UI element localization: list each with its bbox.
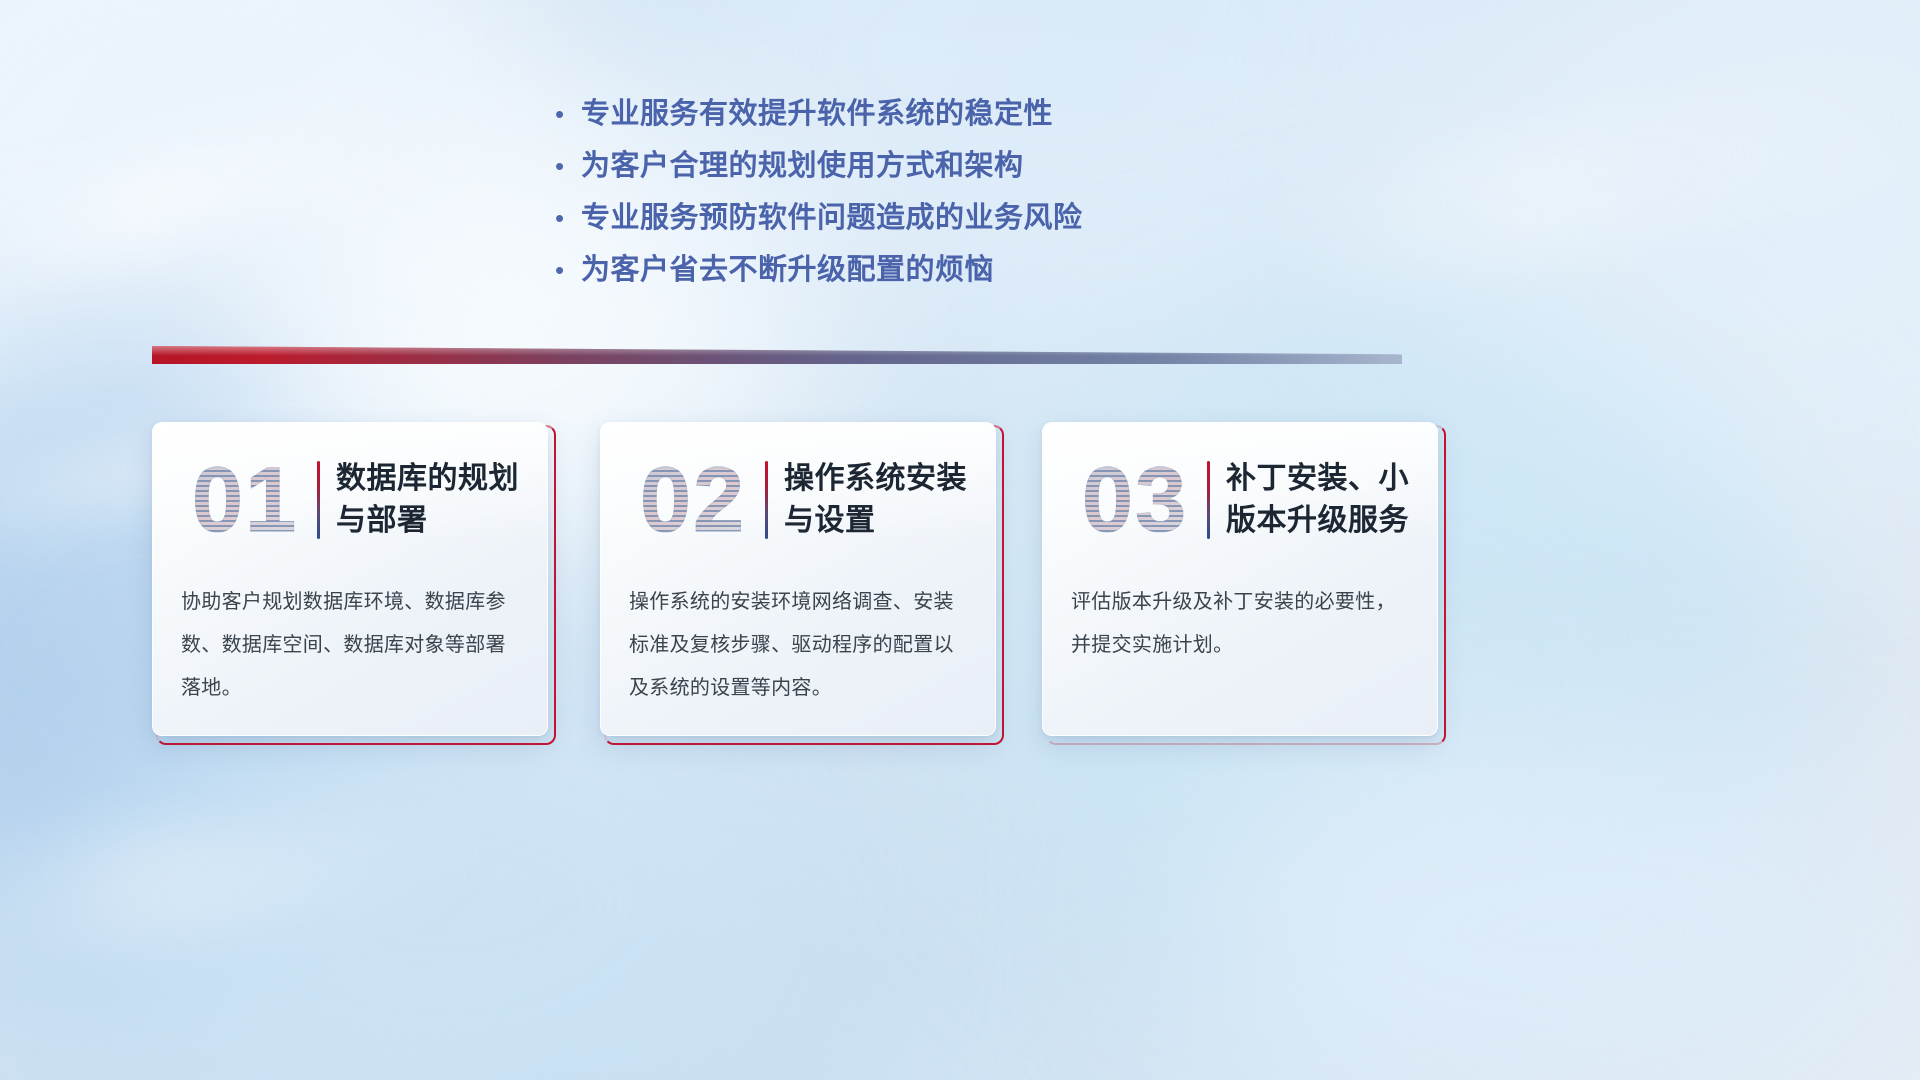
bullet-text: 为客户合理的规划使用方式和架构 (581, 144, 1024, 188)
card-divider-rule (317, 461, 320, 539)
list-item: • 为客户省去不断升级配置的烦恼 (555, 248, 1375, 300)
list-item: • 专业服务预防软件问题造成的业务风险 (555, 196, 1375, 248)
light-blob (1380, 0, 1920, 560)
card-header: 03 补丁安装、小版本升级服务 (1043, 441, 1437, 559)
bullet-dot-icon: • (555, 144, 581, 188)
card-surface: 02 操作系统安装与设置 操作系统的安装环境网络调查、安装标准及复核步骤、驱动程… (600, 422, 996, 736)
slide-canvas: • 专业服务有效提升软件系统的稳定性 • 为客户合理的规划使用方式和架构 • 专… (0, 0, 1920, 1080)
bullet-dot-icon: • (555, 248, 581, 292)
benefits-bullet-list: • 专业服务有效提升软件系统的稳定性 • 为客户合理的规划使用方式和架构 • 专… (555, 92, 1375, 300)
card-description: 协助客户规划数据库环境、数据库参数、数据库空间、数据库对象等部署落地。 (181, 581, 521, 710)
card-surface: 01 数据库的规划与部署 协助客户规划数据库环境、数据库参数、数据库空间、数据库… (152, 422, 548, 736)
card-title: 补丁安装、小版本升级服务 (1226, 458, 1437, 542)
bullet-text: 专业服务预防软件问题造成的业务风险 (581, 196, 1083, 240)
service-card[interactable]: 03 补丁安装、小版本升级服务 评估版本升级及补丁安装的必要性，并提交实施计划。 (1042, 422, 1442, 742)
card-description: 评估版本升级及补丁安装的必要性，并提交实施计划。 (1071, 581, 1411, 667)
service-card-group: 01 数据库的规划与部署 协助客户规划数据库环境、数据库参数、数据库空间、数据库… (152, 422, 1452, 742)
light-streak (0, 783, 485, 967)
card-header: 01 数据库的规划与部署 (153, 441, 547, 559)
card-surface: 03 补丁安装、小版本升级服务 评估版本升级及补丁安装的必要性，并提交实施计划。 (1042, 422, 1438, 736)
bullet-dot-icon: • (555, 92, 581, 136)
card-number-watermark: 02 (623, 450, 763, 550)
card-number-watermark: 03 (1065, 450, 1205, 550)
section-divider (152, 346, 1402, 364)
light-blob (1180, 720, 1920, 1080)
card-description: 操作系统的安装环境网络调查、安装标准及复核步骤、驱动程序的配置以及系统的设置等内… (629, 581, 969, 710)
card-title: 操作系统安装与设置 (784, 458, 995, 542)
service-card[interactable]: 01 数据库的规划与部署 协助客户规划数据库环境、数据库参数、数据库空间、数据库… (152, 422, 552, 742)
card-divider-rule (765, 461, 768, 539)
card-number-watermark: 01 (175, 450, 315, 550)
service-card[interactable]: 02 操作系统安装与设置 操作系统的安装环境网络调查、安装标准及复核步骤、驱动程… (600, 422, 1000, 742)
card-header: 02 操作系统安装与设置 (601, 441, 995, 559)
bullet-text: 为客户省去不断升级配置的烦恼 (581, 248, 994, 292)
card-divider-rule (1207, 461, 1210, 539)
card-title: 数据库的规划与部署 (336, 458, 547, 542)
bullet-text: 专业服务有效提升软件系统的稳定性 (581, 92, 1053, 136)
list-item: • 为客户合理的规划使用方式和架构 (555, 144, 1375, 196)
list-item: • 专业服务有效提升软件系统的稳定性 (555, 92, 1375, 144)
divider-highlight (152, 346, 1402, 364)
light-streak (0, 85, 423, 306)
bullet-dot-icon: • (555, 196, 581, 240)
